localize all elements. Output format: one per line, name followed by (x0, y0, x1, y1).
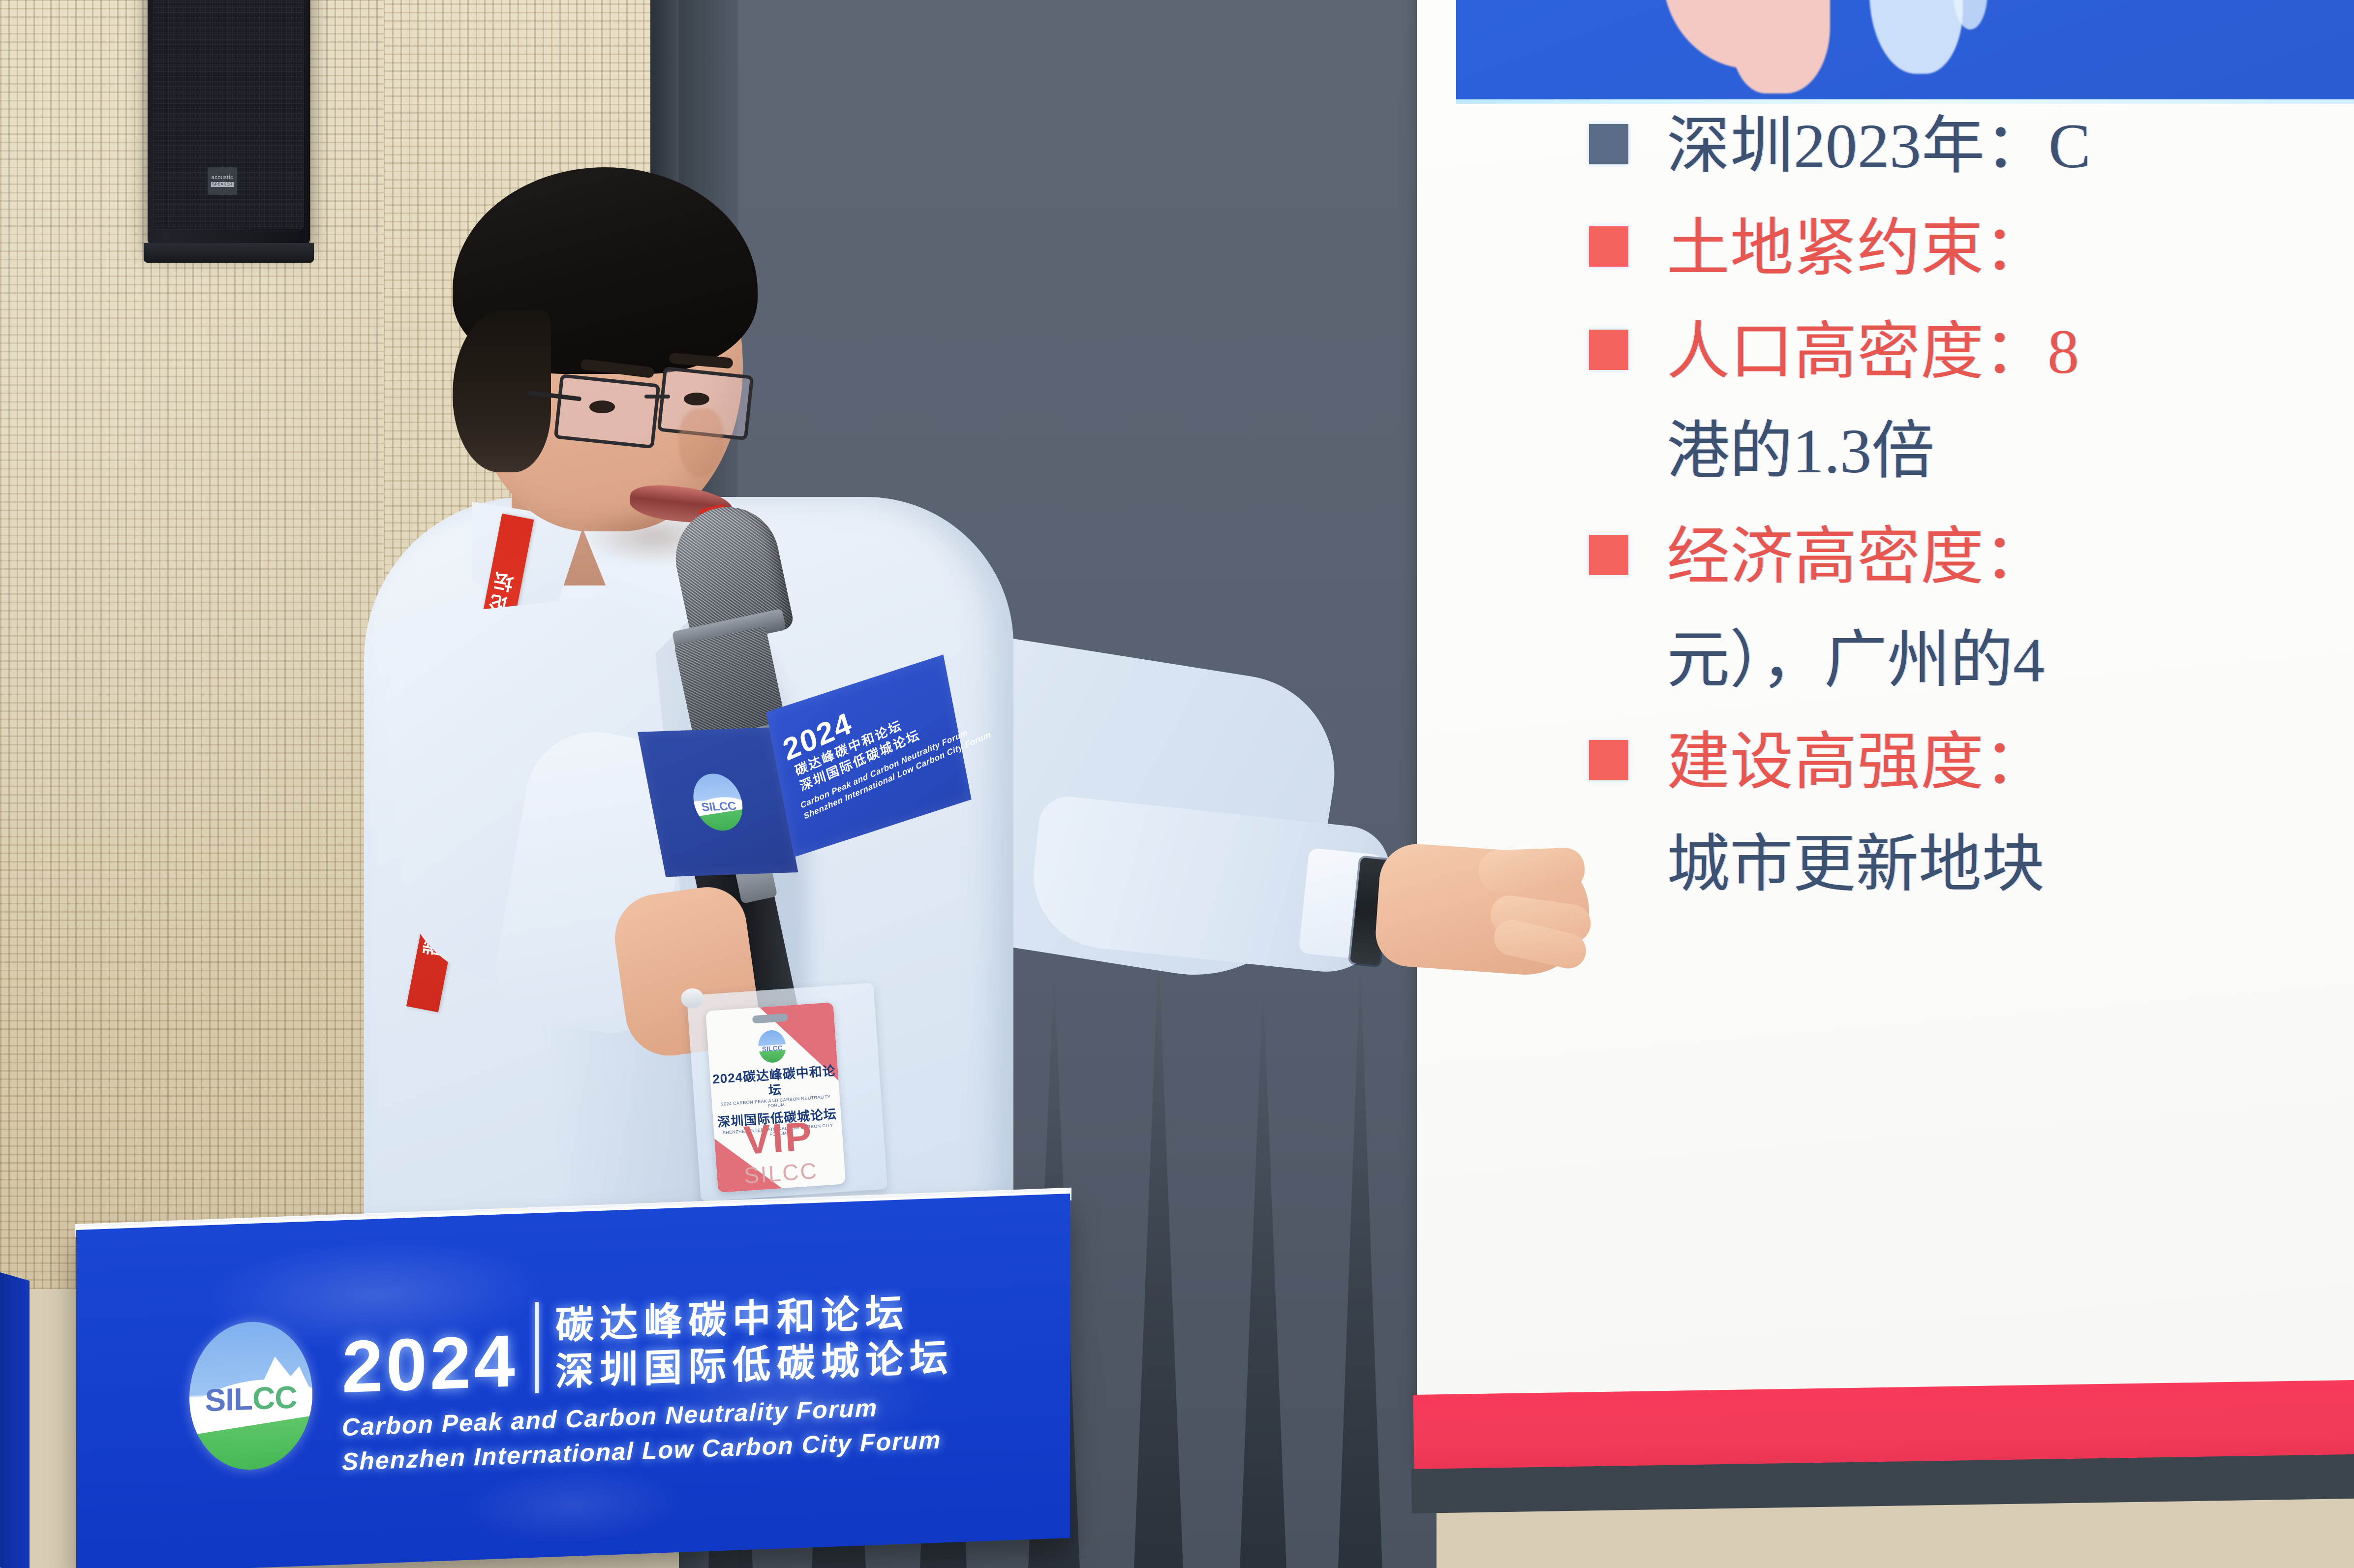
silcc-logo-icon: SILCC (688, 773, 747, 831)
podium-divider (535, 1302, 539, 1393)
bullet-square-icon (1589, 330, 1628, 370)
silcc-logo-icon: SILCC (757, 1029, 787, 1064)
bullet-text: 经济高密度： (1667, 524, 2048, 591)
podium-branding: SILCC 2024 碳达峰碳中和论坛 深圳国际低碳城论坛 Carbon Pea… (76, 1194, 1070, 1568)
loudspeaker-brand-label: acoustic (212, 175, 233, 181)
bullet-text: 土地紧约束： (1667, 215, 2048, 282)
badge-holder-sleeve: SILCC 2024碳达峰碳中和论坛 2024 CARBON PEAK AND … (687, 983, 887, 1201)
slide-bullet-list: 深圳2023年：C 土地紧约束： 人口高密度：8 港的1.3倍 经济高密度： 元… (1417, 108, 2354, 1299)
podium-lectern: SILCC 2024 碳达峰碳中和论坛 深圳国际低碳城论坛 Carbon Pea… (76, 1194, 1070, 1568)
podium-left-face (0, 1272, 30, 1568)
bullet-continuation-text: 城市更新地块 (1667, 831, 2045, 898)
presentation-photo-scene: acoustic SPEAKER 深圳2023年：C 土地紧约束： (0, 0, 2354, 1568)
projection-screen: 深圳2023年：C 土地紧约束： 人口高密度：8 港的1.3倍 经济高密度： 元… (1417, 0, 2354, 1466)
bullet-continuation-text: 港的1.3倍 (1667, 418, 1934, 485)
silcc-logo-icon: SILCC (189, 1320, 312, 1472)
vip-badge: SILCC 2024碳达峰碳中和论坛 2024 CARBON PEAK AND … (705, 1002, 846, 1193)
slide-map-graphic (1456, 0, 2354, 103)
bullet-continuation-text: 元），广州的4 (1667, 627, 2045, 694)
eye-left (589, 400, 615, 413)
eye-right (684, 393, 709, 405)
right-hand-gesture (1374, 841, 1593, 979)
bullet-square-icon (1589, 740, 1628, 780)
podium-title-cn-2: 深圳国际低碳城论坛 (555, 1337, 954, 1392)
logo-wordmark: SILCC (189, 1378, 312, 1419)
list-item: 经济高密度： (1589, 524, 2048, 591)
logo-wordmark-cc: CC (252, 1379, 297, 1416)
loudspeaker-base (144, 243, 314, 263)
loudspeaker: acoustic SPEAKER (148, 0, 310, 246)
bullet-square-icon (1589, 124, 1628, 164)
podium-year: 2024 (342, 1327, 518, 1400)
list-item: 建设高强度： (1589, 729, 2048, 796)
cube-logo-text: SILCC (694, 799, 744, 815)
loudspeaker-model-label: SPEAKER (211, 182, 234, 187)
logo-wordmark-sil: SIL (205, 1381, 253, 1418)
slide-map-underline (1456, 99, 2354, 104)
list-item: 人口高密度：8 (1589, 319, 2079, 386)
bullet-text: 深圳2023年：C (1667, 113, 2091, 180)
loudspeaker-grille (153, 0, 304, 229)
podium-text-block: 2024 碳达峰碳中和论坛 深圳国际低碳城论坛 Carbon Peak and … (342, 1282, 1070, 1476)
list-item: 深圳2023年：C (1589, 113, 2091, 180)
loudspeaker-badge: acoustic SPEAKER (208, 167, 237, 195)
bullet-text: 建设高强度： (1667, 729, 2048, 796)
list-item: 土地紧约束： (1589, 215, 2048, 282)
bullet-square-icon (1589, 226, 1628, 267)
bullet-text: 人口高密度：8 (1667, 319, 2079, 386)
badge-logo-text: SILCC (758, 1044, 786, 1053)
bullet-square-icon (1589, 535, 1628, 575)
eyeglasses-bridge (644, 395, 670, 399)
